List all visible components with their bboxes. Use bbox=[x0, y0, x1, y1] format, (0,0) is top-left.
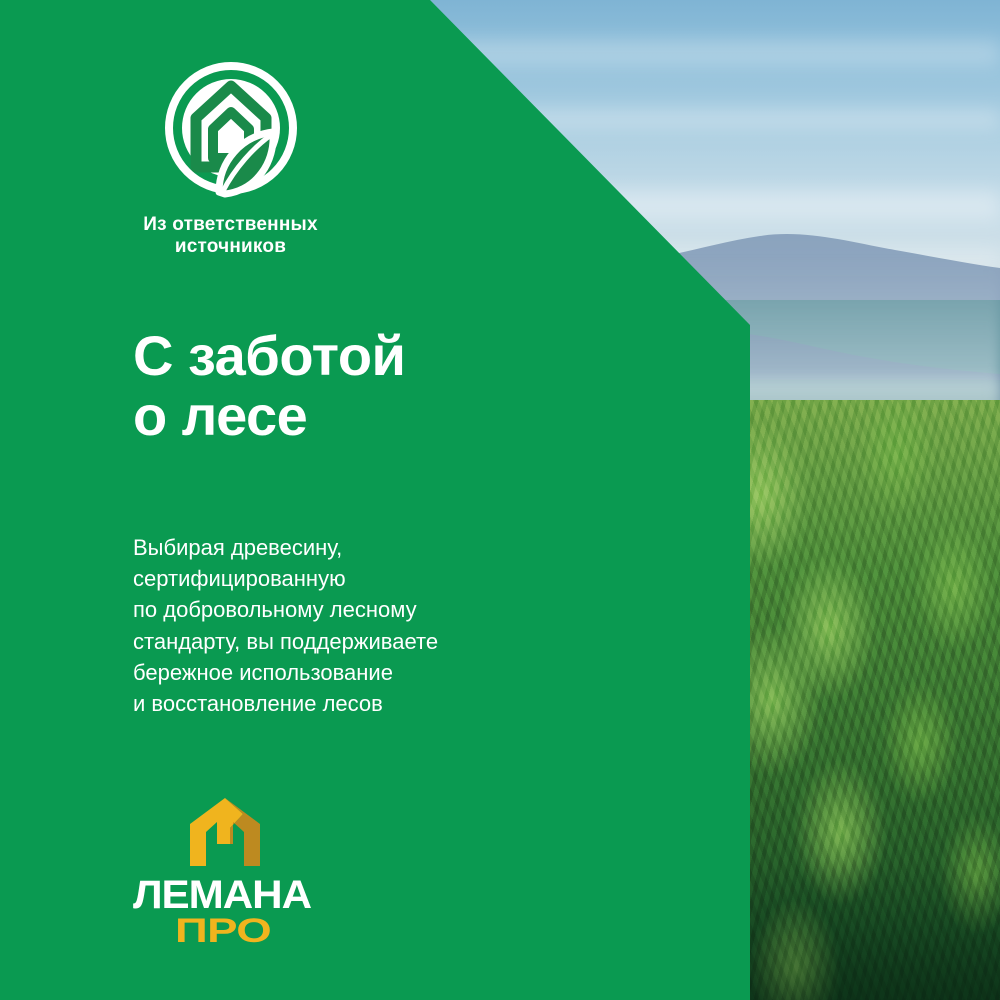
body-paragraph: Выбирая древесину, сертифицированную по … bbox=[133, 532, 563, 719]
brand-logo: ЛЕМАНА ПРО bbox=[133, 796, 313, 944]
certification-mark: Из ответственных источников bbox=[133, 62, 328, 259]
poster: Из ответственных источников С заботой о … bbox=[0, 0, 1000, 1000]
page-title: С заботой о лесе bbox=[133, 326, 405, 446]
house-leaf-circle-icon bbox=[161, 62, 301, 202]
brand-name-primary: ЛЕМАНА bbox=[133, 874, 311, 917]
brand-wordmark: ЛЕМАНА ПРО bbox=[133, 874, 313, 944]
lemana-house-icon bbox=[188, 796, 262, 868]
certification-caption: Из ответственных источников bbox=[133, 214, 328, 259]
brand-name-secondary: ПРО bbox=[175, 912, 271, 944]
poster-content: Из ответственных источников С заботой о … bbox=[0, 0, 750, 1000]
